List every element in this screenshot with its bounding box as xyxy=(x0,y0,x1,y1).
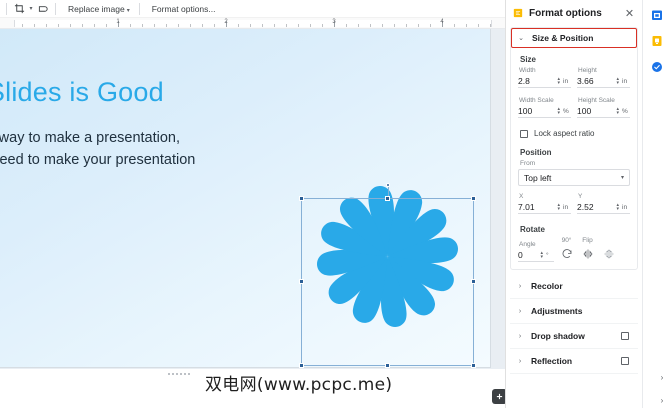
x-caption: X xyxy=(519,193,571,200)
lock-aspect-ratio-checkbox[interactable] xyxy=(520,130,528,138)
x-stepper[interactable]: ▴▾ xyxy=(557,203,560,211)
angle-unit: ° xyxy=(546,252,554,259)
size-position-section: ⌄ Size & Position Size Width 2.8 ▴▾ in H… xyxy=(510,27,638,270)
section-recolor[interactable]: ›Recolor xyxy=(510,274,638,299)
blue-pinwheel-flower-icon xyxy=(300,169,475,344)
height-caption: Height xyxy=(578,67,630,74)
toolbar-divider-2 xyxy=(55,3,56,15)
size-position-label: Size & Position xyxy=(532,33,593,43)
chevron-right-icon: › xyxy=(515,333,525,340)
pinwheel-flower-image[interactable] xyxy=(300,169,475,344)
position-from-value: Top left xyxy=(524,173,621,183)
flip-group: Flip xyxy=(579,237,596,262)
replace-image-caret: ▾ xyxy=(127,8,130,14)
toolbar-divider xyxy=(6,3,7,15)
position-from-caption: From xyxy=(520,160,630,167)
flip-vertical-group xyxy=(600,237,617,262)
chevron-right-icon: › xyxy=(515,283,525,290)
height-scale-stepper[interactable]: ▴▾ xyxy=(616,107,619,115)
height-unit: in xyxy=(622,78,630,85)
horizontal-ruler[interactable]: 1 2 3 4 xyxy=(0,18,505,29)
rotate-90-icon[interactable] xyxy=(558,245,575,262)
position-subheading: Position xyxy=(520,148,637,157)
rotate-controls-row: Angle 0 ▴▾ ° 90° Flip xyxy=(511,237,637,262)
rotate-subheading: Rotate xyxy=(520,225,637,234)
position-from-row: From Top left ▾ xyxy=(511,160,637,186)
size-subheading: Size xyxy=(520,55,637,64)
y-position-field[interactable]: Y 2.52 ▴▾ in xyxy=(577,193,630,214)
size-fields-row: Width 2.8 ▴▾ in Height 3.66 ▴▾ in xyxy=(511,67,637,88)
rotate-90-group: 90° xyxy=(558,237,575,262)
panel-title: Format options xyxy=(529,8,623,19)
x-position-field[interactable]: X 7.01 ▴▾ in xyxy=(518,193,571,214)
format-options-panel: Format options ✕ ⌄ Size & Position Size … xyxy=(505,0,642,408)
google-apps-side-rail xyxy=(642,0,670,408)
height-scale-caption: Height Scale xyxy=(578,97,630,104)
chevron-down-icon: ⌄ xyxy=(516,34,526,42)
y-stepper[interactable]: ▴▾ xyxy=(616,203,619,211)
width-scale-stepper[interactable]: ▴▾ xyxy=(557,107,560,115)
angle-field[interactable]: Angle 0 ▴▾ ° xyxy=(518,241,554,262)
width-scale-field[interactable]: Width Scale 100 ▴▾ % xyxy=(518,97,571,118)
ruler-number: 1 xyxy=(116,19,119,25)
scale-fields-row: Width Scale 100 ▴▾ % Height Scale 100 ▴▾… xyxy=(511,97,637,118)
x-unit: in xyxy=(563,204,571,211)
width-scale-unit: % xyxy=(563,108,571,115)
height-stepper[interactable]: ▴▾ xyxy=(616,77,619,85)
flip-horizontal-icon[interactable] xyxy=(579,245,596,262)
height-scale-value[interactable]: 100 xyxy=(577,106,616,116)
lock-aspect-ratio-label: Lock aspect ratio xyxy=(534,129,594,138)
flip-caption: Flip xyxy=(582,237,592,245)
y-caption: Y xyxy=(578,193,630,200)
section-label: Drop shadow xyxy=(531,331,621,341)
section-label: Reflection xyxy=(531,356,621,366)
lock-aspect-ratio-row[interactable]: Lock aspect ratio xyxy=(511,129,637,138)
ruler-number: 3 xyxy=(332,19,335,25)
chevron-right-icon: › xyxy=(515,358,525,365)
slides-editor-window: ▾ Replace image▾ Format options... xyxy=(0,0,670,408)
google-calendar-icon[interactable] xyxy=(650,8,663,21)
x-value[interactable]: 7.01 xyxy=(518,202,557,212)
slide-body-text[interactable]: easy way to make a presentation, you nee… xyxy=(0,127,294,193)
section-adjustments[interactable]: ›Adjustments xyxy=(510,299,638,324)
ruler-ticks xyxy=(0,18,505,28)
chevron-down-icon[interactable]: ▾ xyxy=(27,2,35,16)
mask-shape-icon[interactable] xyxy=(35,2,51,16)
toolbar-divider-3 xyxy=(139,3,140,15)
panel-header: Format options ✕ xyxy=(506,0,642,26)
width-scale-value[interactable]: 100 xyxy=(518,106,557,116)
y-unit: in xyxy=(622,204,630,211)
chevron-right-icon: › xyxy=(515,308,525,315)
position-from-select[interactable]: Top left ▾ xyxy=(518,169,630,186)
close-icon[interactable]: ✕ xyxy=(623,7,636,20)
expand-next-icon[interactable]: › xyxy=(656,393,668,407)
width-unit: in xyxy=(563,78,571,85)
width-stepper[interactable]: ▴▾ xyxy=(557,77,560,85)
height-value[interactable]: 3.66 xyxy=(577,76,616,86)
format-options-icon xyxy=(512,8,523,19)
height-scale-unit: % xyxy=(622,108,630,115)
section-drop-shadow[interactable]: ›Drop shadow xyxy=(510,324,638,349)
slide-surface[interactable]: e Slides is Good easy way to make a pres… xyxy=(0,29,490,367)
width-caption: Width xyxy=(519,67,571,74)
format-options-button[interactable]: Format options... xyxy=(147,3,221,15)
section-label: Recolor xyxy=(531,281,633,291)
google-tasks-icon[interactable] xyxy=(650,60,663,73)
ruler-number: 4 xyxy=(440,19,443,25)
flip-vertical-icon[interactable] xyxy=(600,245,617,262)
expand-reflection-icon[interactable]: › xyxy=(656,370,668,384)
collapsed-sections-list: ›Recolor›Adjustments›Drop shadow›Reflect… xyxy=(506,274,642,374)
width-scale-caption: Width Scale xyxy=(519,97,571,104)
slide-resize-grip[interactable] xyxy=(168,373,190,375)
ruler-number: 2 xyxy=(224,19,227,25)
height-scale-field[interactable]: Height Scale 100 ▴▾ % xyxy=(577,97,630,118)
chevron-down-icon: ▾ xyxy=(621,174,624,181)
height-field[interactable]: Height 3.66 ▴▾ in xyxy=(577,67,630,88)
google-keep-icon[interactable] xyxy=(650,34,663,47)
crop-icon[interactable] xyxy=(11,2,27,16)
rotate-90-caption: 90° xyxy=(562,237,572,245)
slide-canvas[interactable]: e Slides is Good easy way to make a pres… xyxy=(0,29,505,369)
size-position-header[interactable]: ⌄ Size & Position xyxy=(511,28,637,48)
width-value[interactable]: 2.8 xyxy=(518,76,557,86)
y-value[interactable]: 2.52 xyxy=(577,202,616,212)
watermark-text: 双电网(www.pcpc.me) xyxy=(205,370,392,395)
section-reflection[interactable]: ›Reflection xyxy=(510,349,638,374)
image-toolbar: ▾ Replace image▾ Format options... xyxy=(0,0,505,18)
xy-fields-row: X 7.01 ▴▾ in Y 2.52 ▴▾ in xyxy=(511,193,637,214)
section-toggle-checkbox[interactable] xyxy=(621,332,629,340)
angle-caption: Angle xyxy=(519,241,554,248)
section-toggle-checkbox[interactable] xyxy=(621,357,629,365)
angle-stepper[interactable]: ▴▾ xyxy=(540,251,543,259)
angle-value[interactable]: 0 xyxy=(518,250,540,260)
replace-image-label: Replace image xyxy=(68,4,125,14)
replace-image-button[interactable]: Replace image▾ xyxy=(63,3,135,15)
width-field[interactable]: Width 2.8 ▴▾ in xyxy=(518,67,571,88)
section-label: Adjustments xyxy=(531,306,633,316)
slide-title[interactable]: e Slides is Good xyxy=(0,77,164,108)
